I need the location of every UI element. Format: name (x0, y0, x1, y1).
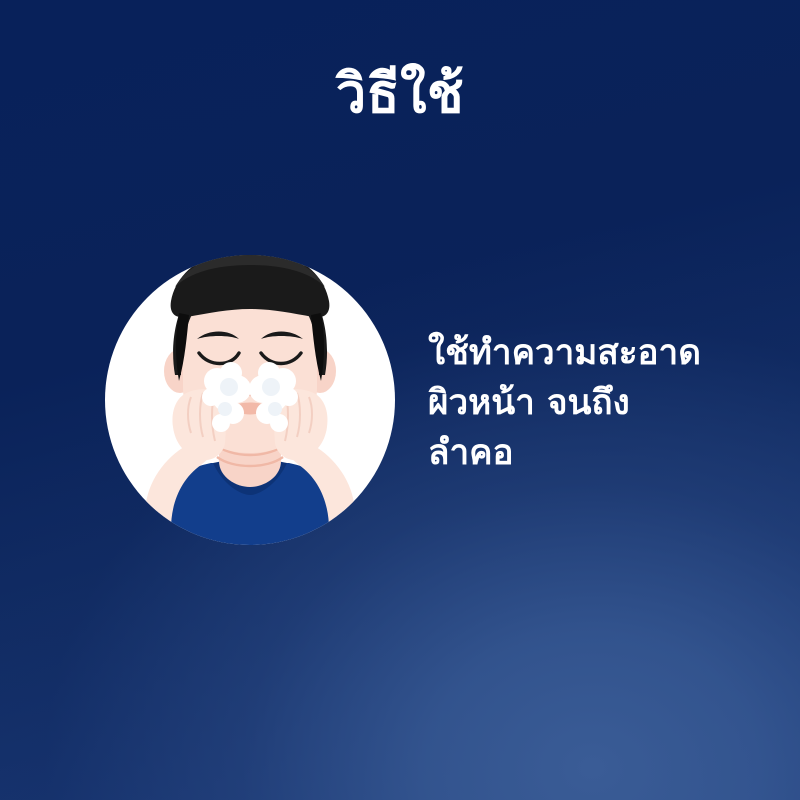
page-title: วิธีใช้ (0, 63, 800, 125)
caption-line-3: ลำคอ (428, 428, 758, 478)
poster-canvas: วิธีใช้ (0, 0, 800, 800)
man-washing-face-illustration (105, 247, 395, 553)
caption-line-1: ใช้ทำความสะอาด (428, 328, 758, 378)
caption-text: ใช้ทำความสะอาด ผิวหน้า จนถึง ลำคอ (428, 328, 758, 478)
caption-line-2: ผิวหน้า จนถึง (428, 378, 758, 428)
